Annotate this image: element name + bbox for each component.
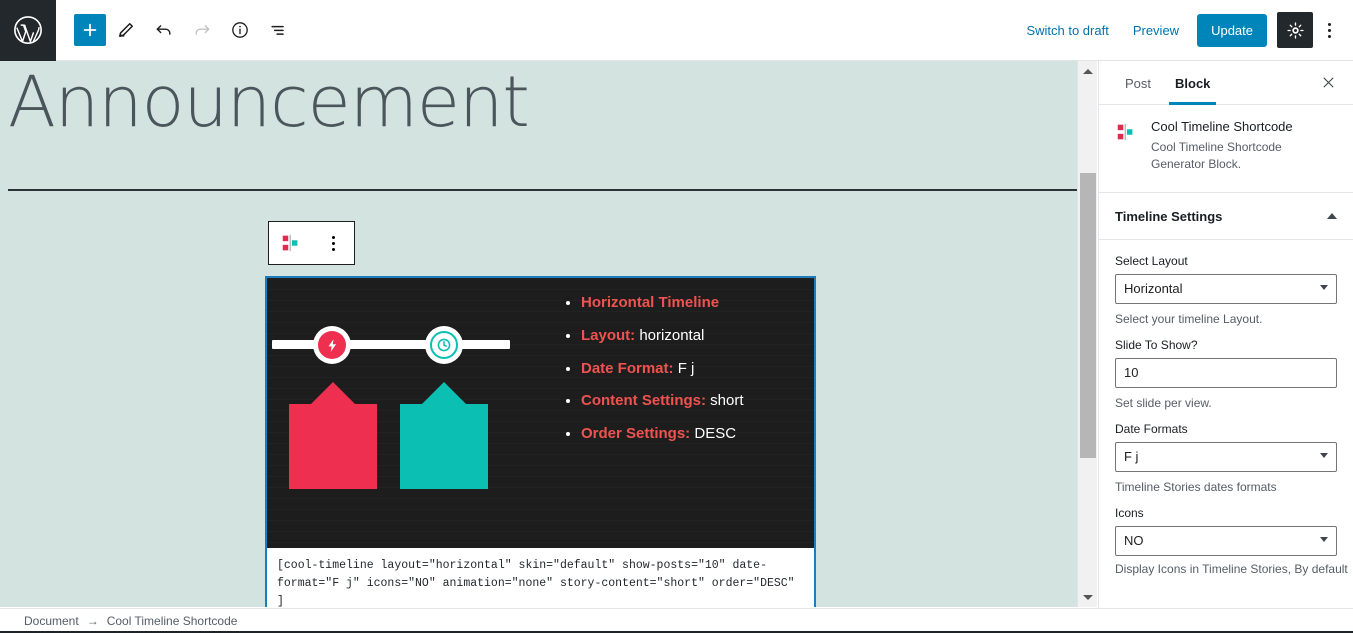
timeline-settings-fields: Select Layout Horizontal Select your tim… [1099,240,1353,556]
card-body [400,404,488,489]
select-layout-wrapper: Horizontal [1115,274,1337,304]
kebab-dots [332,236,335,251]
timeline-settings-panel-header[interactable]: Timeline Settings [1099,193,1353,240]
block-toolbar [268,221,355,265]
setting-key: Content Settings: [581,392,706,409]
card-body [289,404,377,489]
clock-icon [430,331,458,359]
scroll-up-arrow-icon[interactable] [1078,61,1098,81]
sidebar-tabs: Post Block [1099,61,1353,105]
setting-key: Layout: [581,327,635,344]
undo-arrow-icon[interactable] [146,12,182,48]
card-beak [311,382,355,404]
block-description: Cool Timeline Shortcode Generator Block. [1151,139,1337,174]
settings-sidebar: Post Block Cool Timeline Shortcode Cool … [1098,61,1353,608]
editor-tools [56,12,296,48]
panel-title: Timeline Settings [1115,209,1222,224]
slide-to-show-help: Set slide per view. [1115,396,1337,410]
timeline-card-teal [400,382,488,489]
block-info-card: Cool Timeline Shortcode Cool Timeline Sh… [1099,105,1353,193]
redo-arrow-icon[interactable] [184,12,220,48]
icons-label: Icons [1115,506,1337,520]
lightning-bolt-icon [318,331,346,359]
date-formats-help: Timeline Stories dates formats [1115,480,1337,494]
top-bar-actions: Switch to draft Preview Update [1014,12,1353,48]
list-item: Horizontal Timeline [581,294,804,313]
info-circle-icon[interactable] [222,12,258,48]
block-info-text: Cool Timeline Shortcode Cool Timeline Sh… [1151,119,1337,174]
breadcrumb: Document → Cool Timeline Shortcode [0,608,1353,633]
update-button[interactable]: Update [1197,14,1267,47]
select-layout-label: Select Layout [1115,254,1337,268]
page-title[interactable]: Announcement [0,61,1097,137]
card-beak [422,382,466,404]
icons-help: Display Icons in Timeline Stories, By de… [1099,556,1353,576]
select-layout[interactable]: Horizontal [1115,274,1337,304]
preview-settings-list: Horizontal Timeline Layout: horizontal D… [557,294,804,458]
cool-timeline-shortcode-block[interactable]: Horizontal Timeline Layout: horizontal D… [265,276,816,607]
timeline-node-1 [313,326,351,364]
cool-timeline-icon[interactable] [269,222,312,264]
block-more-options-icon[interactable] [312,222,354,264]
block-title: Cool Timeline Shortcode [1151,119,1337,134]
list-item: Order Settings: DESC [581,425,804,444]
scrollbar-thumb[interactable] [1080,173,1096,458]
timeline-graphic [267,278,527,548]
wordpress-block-editor: Switch to draft Preview Update Announcem [0,0,1353,633]
slide-to-show-input[interactable] [1115,358,1337,388]
timeline-preview: Horizontal Timeline Layout: horizontal D… [267,278,814,548]
cool-timeline-icon [1115,119,1139,174]
gear-icon[interactable] [1277,12,1313,48]
switch-to-draft-button[interactable]: Switch to draft [1014,17,1120,44]
scroll-down-arrow-icon[interactable] [1078,587,1098,607]
breadcrumb-separator: → [87,614,99,628]
breadcrumb-current[interactable]: Cool Timeline Shortcode [107,614,238,628]
icons-wrapper: NO [1115,526,1337,556]
close-icon[interactable] [1313,68,1343,98]
chevron-up-icon [1327,213,1337,219]
breadcrumb-root[interactable]: Document [24,614,79,628]
title-separator [8,189,1089,191]
timeline-rail [272,340,510,349]
date-formats-wrapper: F j [1115,442,1337,472]
setting-value: F j [678,360,695,377]
shortcode-text[interactable]: [cool-timeline layout="horizontal" skin=… [267,548,814,607]
select-layout-help: Select your timeline Layout. [1115,312,1337,326]
timeline-node-2 [425,326,463,364]
list-view-icon[interactable] [260,12,296,48]
tab-post[interactable]: Post [1113,62,1163,104]
date-formats-label: Date Formats [1115,422,1337,436]
setting-key: Date Format: [581,360,674,377]
list-item: Layout: horizontal [581,327,804,346]
preview-button[interactable]: Preview [1121,17,1191,44]
slide-to-show-label: Slide To Show? [1115,338,1337,352]
setting-value: short [710,392,743,409]
kebab-menu-icon[interactable] [1313,12,1345,48]
setting-key: Order Settings: [581,425,690,442]
icons-select[interactable]: NO [1115,526,1337,556]
timeline-card-red [289,382,377,489]
setting-value: DESC [694,425,736,442]
editor-top-bar: Switch to draft Preview Update [0,0,1353,61]
tab-block[interactable]: Block [1163,62,1222,104]
setting-key: Horizontal Timeline [581,294,719,311]
list-item: Date Format: F j [581,360,804,379]
list-item: Content Settings: short [581,392,804,411]
wordpress-logo-icon[interactable] [0,0,56,61]
edit-pencil-icon[interactable] [108,12,144,48]
editor-canvas[interactable]: Announcement [0,61,1097,607]
date-formats-select[interactable]: F j [1115,442,1337,472]
add-block-button[interactable] [74,14,106,46]
kebab-dots [1328,23,1331,38]
canvas-scrollbar[interactable] [1077,61,1097,607]
setting-value: horizontal [639,327,704,344]
